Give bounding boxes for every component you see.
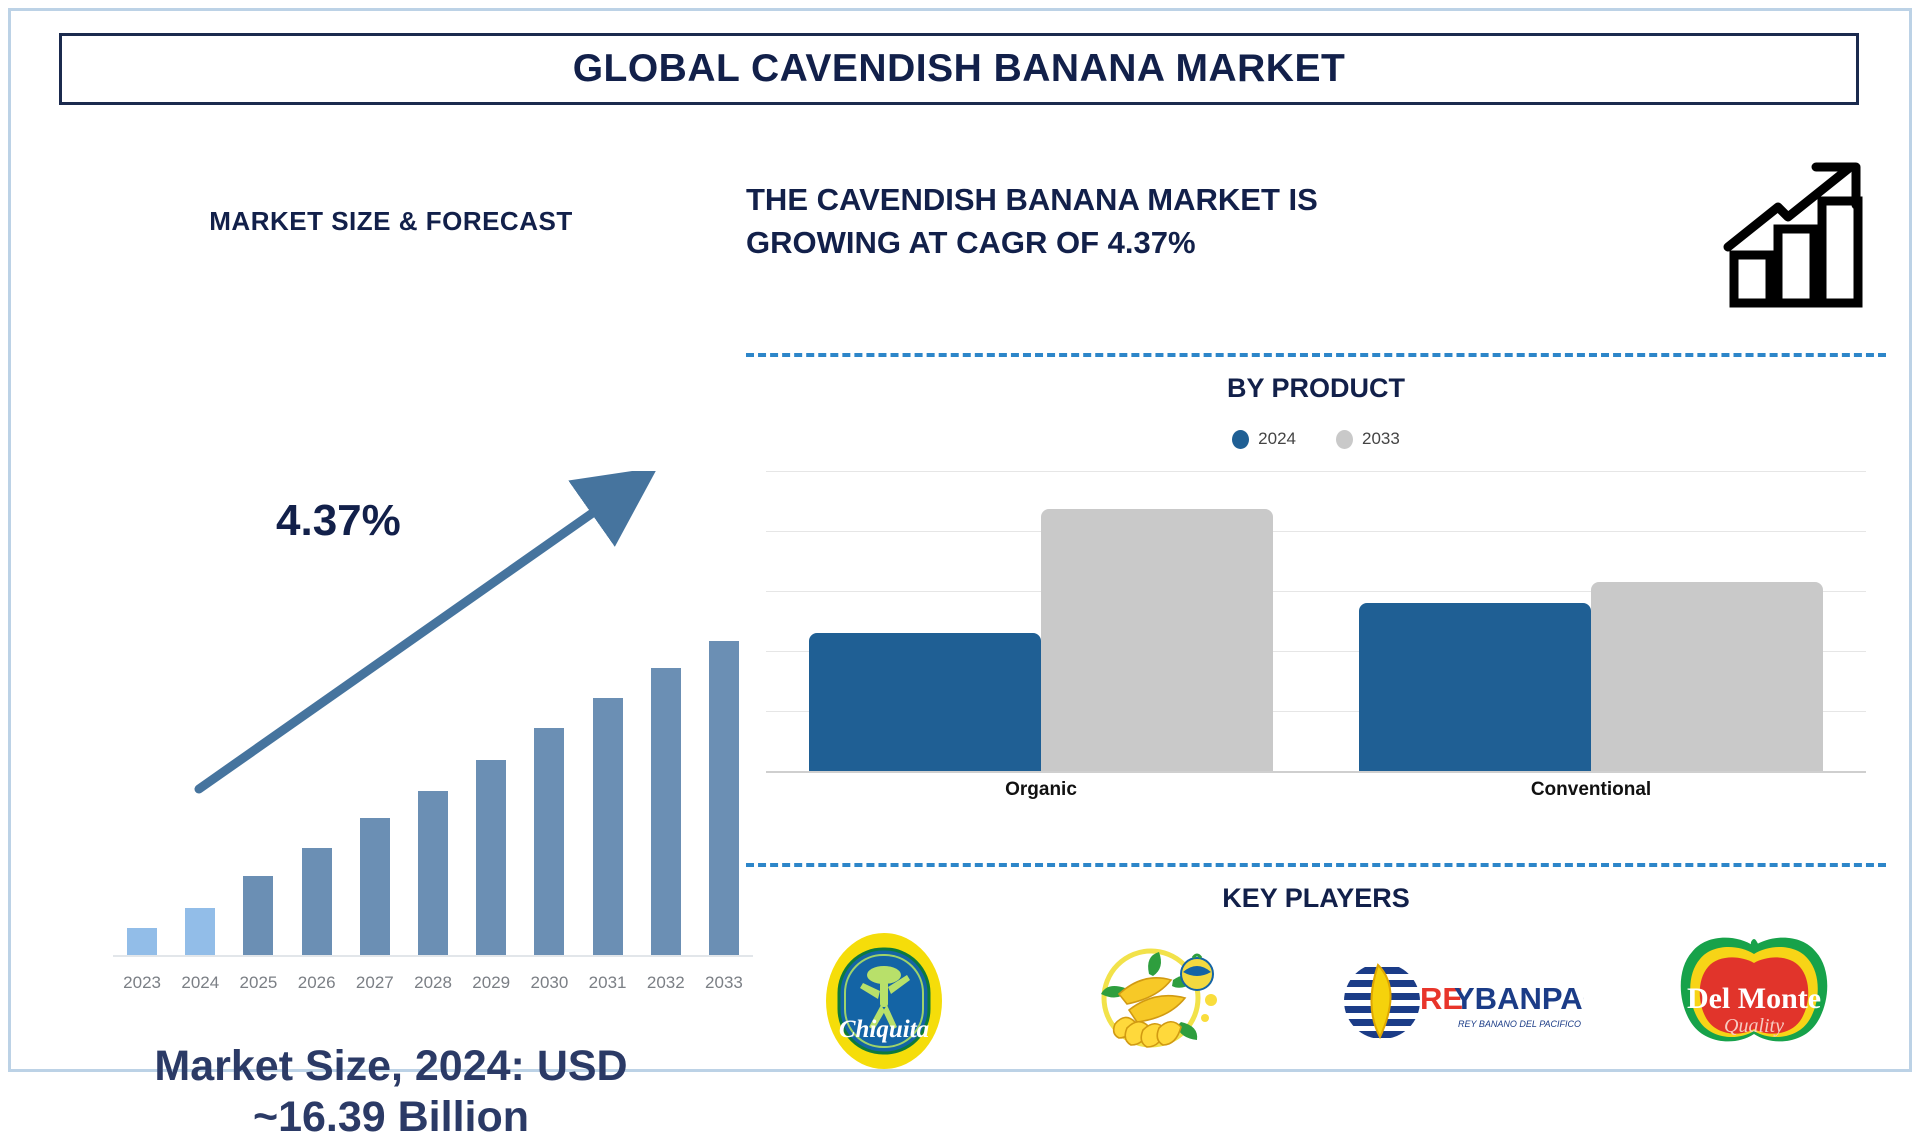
tick-label: 2031 xyxy=(579,973,637,993)
bar-organic-2033 xyxy=(1041,509,1273,771)
divider-top xyxy=(746,353,1886,357)
chart-legend: 2024 2033 xyxy=(746,429,1886,449)
category-label-conventional: Conventional xyxy=(1316,779,1866,801)
tick-label: 2027 xyxy=(346,973,404,993)
tick-label: 2023 xyxy=(113,973,171,993)
legend-label: 2024 xyxy=(1258,429,1296,449)
category-label-organic: Organic xyxy=(766,779,1316,801)
bar-cell xyxy=(288,551,346,956)
x-axis-tick-labels: 2023 2024 2025 2026 2027 2028 2029 2030 … xyxy=(113,973,753,993)
del-monte-wordmark: Del Monte xyxy=(1686,982,1820,1015)
legend-item-2033: 2033 xyxy=(1336,429,1400,449)
bar-conventional-2033 xyxy=(1591,582,1823,771)
tick-label: 2028 xyxy=(404,973,462,993)
bar-2024 xyxy=(185,908,215,956)
tick-label: 2033 xyxy=(695,973,753,993)
by-product-bar-chart: Organic Conventional xyxy=(766,471,1866,801)
growth-bar-chart-arrow-icon xyxy=(1716,159,1876,309)
legend-swatch-icon xyxy=(1336,430,1353,449)
by-product-title: BY PRODUCT xyxy=(746,373,1886,404)
bar-2029 xyxy=(476,760,506,956)
market-size-bars xyxy=(113,551,753,956)
bar-cell xyxy=(404,551,462,956)
key-player-logo-banana-bunch[interactable] xyxy=(1059,931,1259,1071)
svg-text:Chiquita: Chiquita xyxy=(838,1016,928,1043)
reybanpac-tagline: REY BANANO DEL PACIFICO C.A. xyxy=(1458,1019,1584,1029)
reybanpac-logo-icon: RE YBANPAC REY BANANO DEL PACIFICO C.A. xyxy=(1334,951,1584,1051)
bar-2028 xyxy=(418,791,448,956)
chiquita-logo-icon: Chiquita xyxy=(819,931,949,1071)
footer-line-2: ~16.39 Billion xyxy=(41,1092,741,1142)
headline-line-2: GROWING AT CAGR OF 4.37% xyxy=(746,222,1646,265)
category-axis-line xyxy=(766,771,1866,773)
legend-swatch-icon xyxy=(1232,430,1249,449)
market-size-forecast-panel: MARKET SIZE & FORECAST 4.37% xyxy=(41,141,741,1061)
key-players-title: KEY PLAYERS xyxy=(746,883,1886,914)
tick-label: 2029 xyxy=(462,973,520,993)
group-organic xyxy=(766,471,1316,771)
bar-2031 xyxy=(593,698,623,956)
headline-line-1: THE CAVENDISH BANANA MARKET IS xyxy=(746,179,1646,222)
bar-2025 xyxy=(243,876,273,956)
left-section-title: MARKET SIZE & FORECAST xyxy=(41,206,741,237)
key-player-logo-reybanpac[interactable]: RE YBANPAC REY BANANO DEL PACIFICO C.A. xyxy=(1334,931,1584,1071)
bar-cell xyxy=(520,551,578,956)
legend-item-2024: 2024 xyxy=(1232,429,1296,449)
bar-2033 xyxy=(709,641,739,956)
bar-organic-2024 xyxy=(809,633,1041,771)
bar-cell xyxy=(637,551,695,956)
bar-conventional-2024 xyxy=(1359,603,1591,771)
infographic-frame: GLOBAL CAVENDISH BANANA MARKET MARKET SI… xyxy=(8,8,1912,1072)
group-conventional xyxy=(1316,471,1866,771)
growth-headline: THE CAVENDISH BANANA MARKET IS GROWING A… xyxy=(746,179,1646,265)
bar-cell xyxy=(113,551,171,956)
tick-label: 2030 xyxy=(520,973,578,993)
divider-bottom xyxy=(746,863,1886,867)
title-box: GLOBAL CAVENDISH BANANA MARKET xyxy=(59,33,1859,105)
bar-2027 xyxy=(360,818,390,956)
del-monte-quality-text: Quality xyxy=(1724,1015,1784,1037)
del-monte-logo-icon: Del Monte Quality xyxy=(1659,936,1849,1066)
tick-label: 2025 xyxy=(229,973,287,993)
key-player-logo-chiquita[interactable]: Chiquita xyxy=(784,931,984,1071)
reybanpac-wordmark-blue: YBANPAC xyxy=(1454,981,1584,1016)
page-title: GLOBAL CAVENDISH BANANA MARKET xyxy=(573,47,1346,91)
bar-cell xyxy=(579,551,637,956)
bar-cell xyxy=(171,551,229,956)
footer-line-1: Market Size, 2024: USD xyxy=(41,1041,741,1092)
x-axis-line xyxy=(113,955,753,957)
market-size-bar-chart: 2023 2024 2025 2026 2027 2028 2029 2030 … xyxy=(103,541,753,1001)
market-size-footer: Market Size, 2024: USD ~16.39 Billion xyxy=(41,1041,741,1142)
tick-label: 2026 xyxy=(288,973,346,993)
key-players-row: Chiquita xyxy=(746,931,1886,1071)
bar-2032 xyxy=(651,668,681,956)
legend-label: 2033 xyxy=(1362,429,1400,449)
bar-2023 xyxy=(127,928,157,956)
bar-cell xyxy=(695,551,753,956)
category-labels: Organic Conventional xyxy=(766,779,1866,801)
grouped-bars xyxy=(766,471,1866,771)
bar-cell xyxy=(346,551,404,956)
tick-label: 2024 xyxy=(171,973,229,993)
banana-bunch-logo-icon xyxy=(1089,936,1229,1066)
key-player-logo-del-monte[interactable]: Del Monte Quality xyxy=(1659,931,1849,1071)
bar-cell xyxy=(229,551,287,956)
right-panel: THE CAVENDISH BANANA MARKET IS GROWING A… xyxy=(746,141,1886,1071)
bar-2030 xyxy=(534,728,564,956)
tick-label: 2032 xyxy=(637,973,695,993)
bar-2026 xyxy=(302,848,332,956)
bar-cell xyxy=(462,551,520,956)
